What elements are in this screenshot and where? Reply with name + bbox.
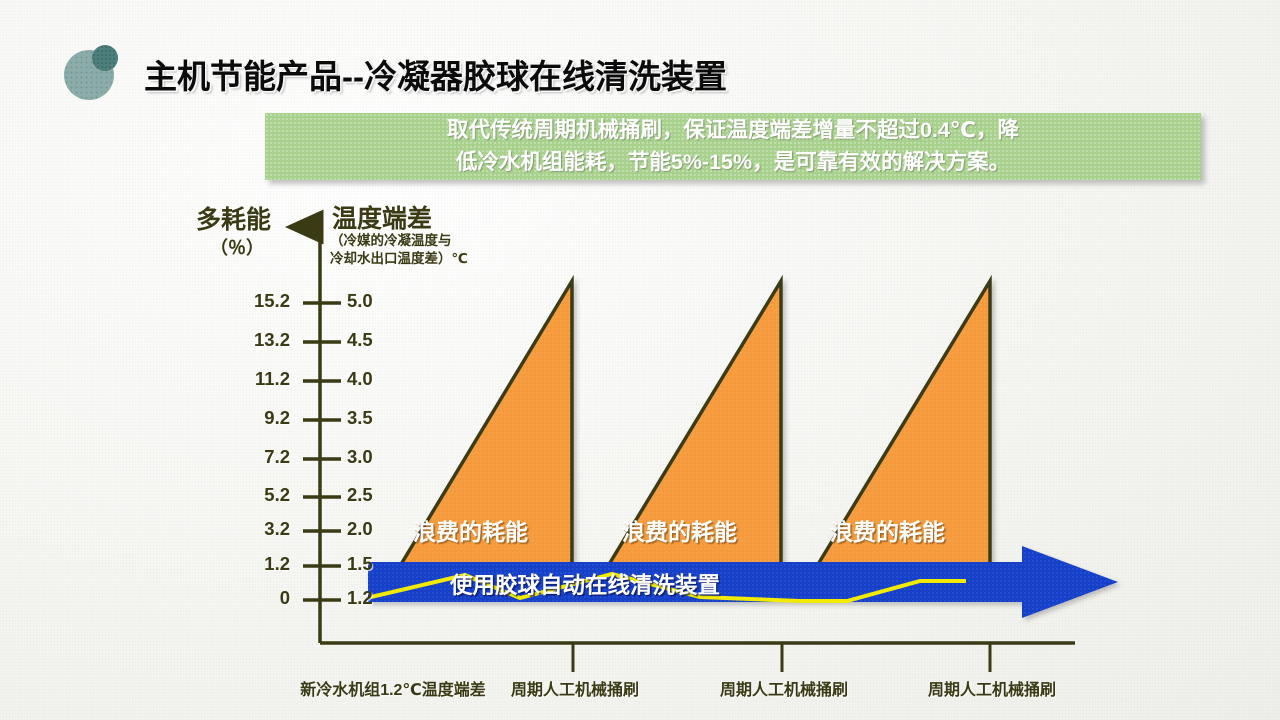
- left-axis-unit: （％）: [210, 234, 264, 260]
- right-tick-label: 2.5: [347, 484, 427, 506]
- waste-energy-label: 浪费的耗能: [622, 513, 737, 547]
- y-axis: [303, 227, 341, 643]
- left-tick-label: 11.2: [210, 368, 290, 390]
- waste-energy-label: 浪费的耗能: [830, 513, 945, 547]
- x-axis-category-label: 周期人工机械捅刷: [500, 676, 650, 700]
- left-tick-label: 0: [210, 587, 290, 609]
- arrow-label: 使用胶球自动在线清洗装置: [450, 568, 720, 600]
- waste-energy-label: 浪费的耗能: [413, 513, 528, 547]
- right-tick-label: 1.5: [347, 553, 427, 575]
- x-axis: [320, 643, 1075, 672]
- left-axis-title: 多耗能: [196, 200, 271, 236]
- left-tick-label: 13.2: [210, 329, 290, 351]
- right-tick-label: 4.5: [347, 329, 427, 351]
- x-axis-category-label: 新冷水机组1.2℃温度端差: [293, 676, 493, 700]
- left-tick-label: 1.2: [210, 553, 290, 575]
- y-axis-ticks: [303, 303, 341, 600]
- right-tick-label: 5.0: [347, 290, 427, 312]
- chart-title: 温度端差: [332, 199, 432, 235]
- left-tick-label: 5.2: [210, 484, 290, 506]
- right-tick-label: 3.5: [347, 407, 427, 429]
- right-tick-label: 4.0: [347, 368, 427, 390]
- left-tick-label: 15.2: [210, 290, 290, 312]
- x-axis-category-label: 周期人工机械捅刷: [709, 676, 859, 700]
- chart-graphics: [0, 0, 1280, 720]
- x-axis-category-label: 周期人工机械捅刷: [917, 676, 1067, 700]
- right-tick-label: 3.0: [347, 446, 427, 468]
- left-tick-label: 7.2: [210, 446, 290, 468]
- left-tick-label: 9.2: [210, 407, 290, 429]
- slide-canvas: 主机节能产品--冷凝器胶球在线清洗装置 取代传统周期机械捅刷，保证温度端差增量不…: [0, 0, 1280, 720]
- chart-subtitle: （冷媒的冷凝温度与 冷却水出口温度差）℃: [330, 232, 468, 268]
- right-tick-label: 1.2: [347, 587, 427, 609]
- left-tick-label: 3.2: [210, 518, 290, 540]
